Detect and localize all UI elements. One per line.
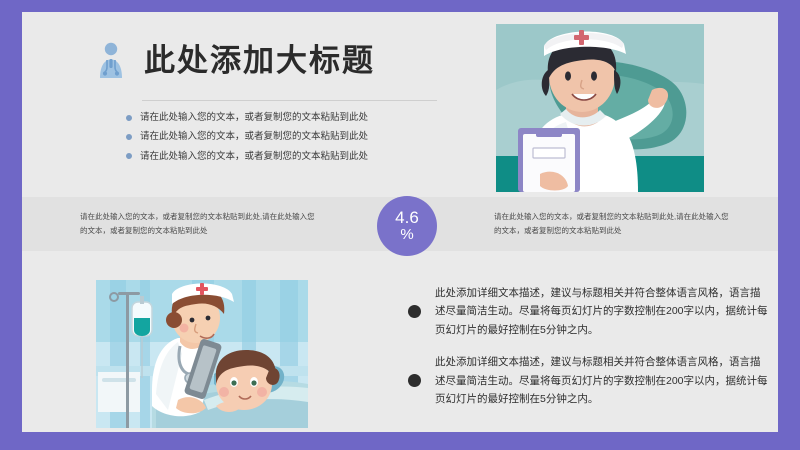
bullet-dot-icon — [126, 115, 132, 121]
list-item: 此处添加详细文本描述，建议与标题相关并符合整体语言风格，语言描述尽量简洁生动。尽… — [408, 284, 768, 339]
paragraph-text: 此处添加详细文本描述，建议与标题相关并符合整体语言风格，语言描述尽量简洁生动。尽… — [435, 353, 768, 408]
nurse-standing-illustration — [496, 24, 704, 192]
bullet-label: 请在此处输入您的文本，或者复制您的文本粘贴到此处 — [140, 131, 368, 142]
bullet-dot-icon — [408, 374, 421, 387]
title-divider — [142, 100, 437, 101]
slide-root: 此处添加大标题 请在此处输入您的文本，或者复制您的文本粘贴到此处 请在此处输入您… — [0, 0, 800, 450]
list-item: 此处添加详细文本描述，建议与标题相关并符合整体语言风格，语言描述尽量简洁生动。尽… — [408, 353, 768, 408]
badge-unit: % — [400, 227, 413, 243]
slide-title-row: 此处添加大标题 — [94, 40, 375, 80]
doctor-icon — [94, 40, 128, 80]
bullet-dot-icon — [126, 134, 132, 140]
nurse-child-care-illustration — [96, 280, 308, 428]
bullet-dot-icon — [408, 305, 421, 318]
page-title: 此处添加大标题 — [144, 45, 375, 76]
bullet-label: 请在此处输入您的文本，或者复制您的文本粘贴到此处 — [140, 151, 368, 162]
list-item: 请在此处输入您的文本，或者复制您的文本粘贴到此处 — [126, 151, 426, 162]
bullet-label: 请在此处输入您的文本，或者复制您的文本粘贴到此处 — [140, 112, 368, 123]
bullet-dot-icon — [126, 153, 132, 159]
slide-canvas: 此处添加大标题 请在此处输入您的文本，或者复制您的文本粘贴到此处 请在此处输入您… — [22, 12, 778, 432]
badge-value: 4.6 — [395, 209, 419, 227]
description-paragraph-list: 此处添加详细文本描述，建议与标题相关并符合整体语言风格，语言描述尽量简洁生动。尽… — [408, 284, 768, 422]
intro-bullet-list: 请在此处输入您的文本，或者复制您的文本粘贴到此处 请在此处输入您的文本，或者复制… — [126, 112, 426, 170]
band-text-left: 请在此处输入您的文本，或者复制您的文本粘贴到此处,请在此处输入您的文本，或者复制… — [80, 210, 320, 238]
paragraph-text: 此处添加详细文本描述，建议与标题相关并符合整体语言风格，语言描述尽量简洁生动。尽… — [435, 284, 768, 339]
percentage-badge: 4.6 % — [377, 196, 437, 256]
list-item: 请在此处输入您的文本，或者复制您的文本粘贴到此处 — [126, 112, 426, 123]
list-item: 请在此处输入您的文本，或者复制您的文本粘贴到此处 — [126, 131, 426, 142]
band-text-right: 请在此处输入您的文本，或者复制您的文本粘贴到此处,请在此处输入您的文本，或者复制… — [494, 210, 734, 238]
